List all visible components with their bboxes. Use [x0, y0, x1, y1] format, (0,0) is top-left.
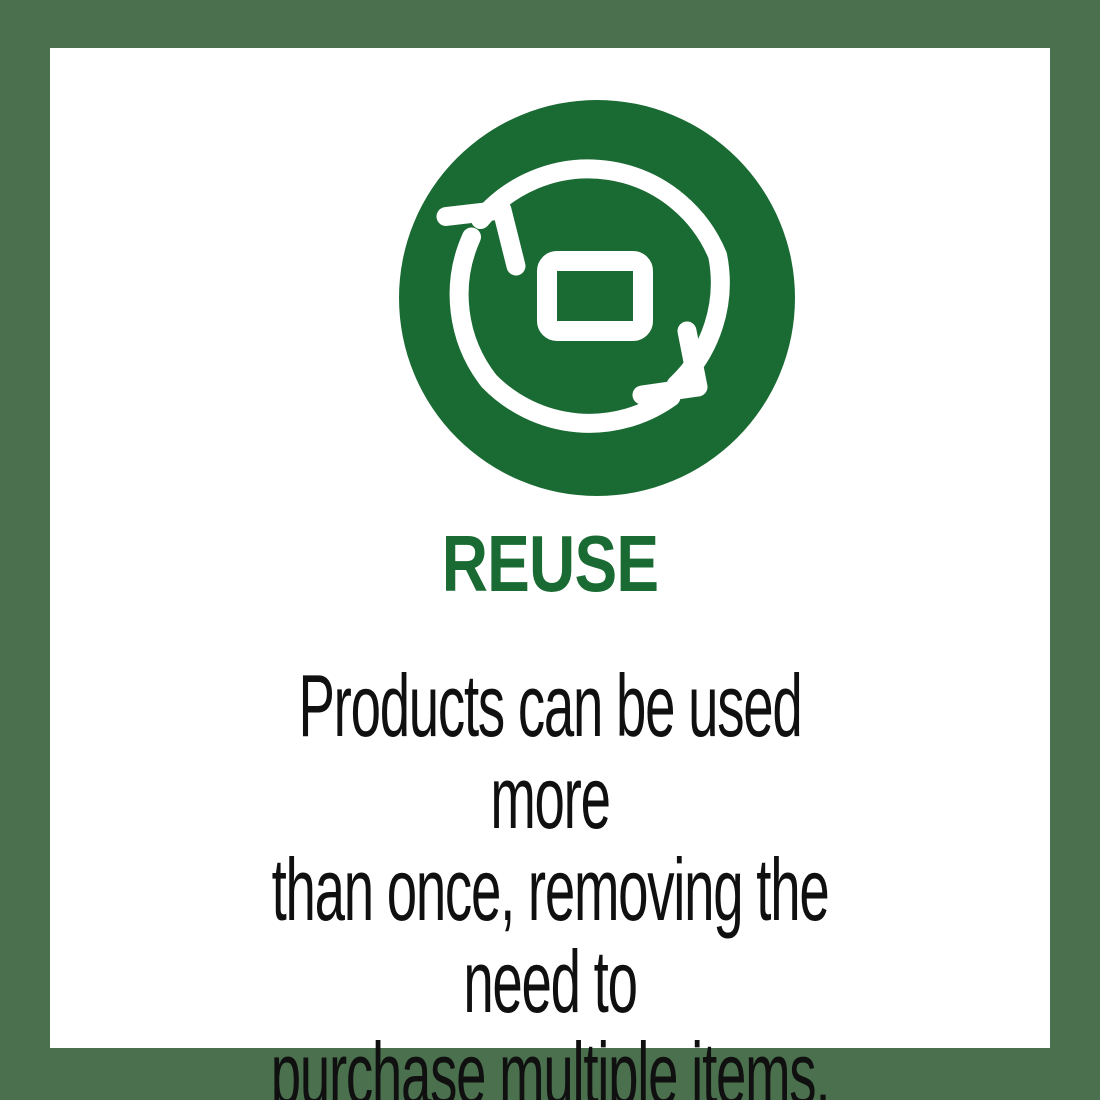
- description-text: Products can be used more than once, rem…: [265, 660, 835, 1100]
- reuse-cycle-icon: [399, 100, 795, 496]
- card-surface: REUSE Products can be used more than onc…: [50, 48, 1050, 1048]
- reuse-info-card: REUSE Products can be used more than onc…: [0, 0, 1100, 1100]
- page-title: REUSE: [150, 524, 950, 604]
